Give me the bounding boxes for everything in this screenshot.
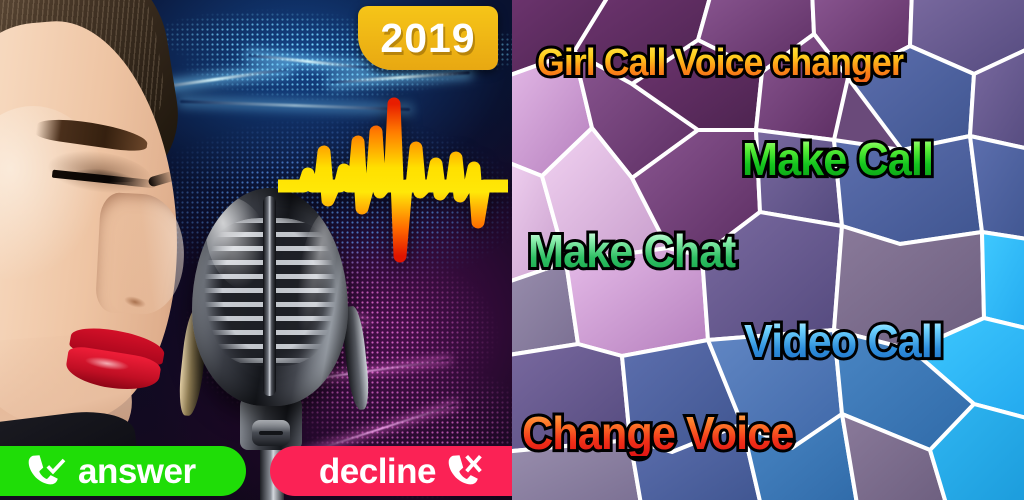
answer-button-label: answer	[78, 454, 196, 489]
year-badge-label: 2019	[380, 18, 475, 59]
year-badge: 2019	[358, 6, 498, 70]
left-panel-hero: 2019 answer decline	[0, 0, 512, 500]
app-screenshot: 2019 answer decline	[0, 0, 1024, 500]
phone-x-icon	[446, 453, 488, 489]
decline-button[interactable]: decline	[270, 446, 512, 496]
decline-button-label: decline	[319, 454, 436, 489]
feature-video-call-label: Video Call	[744, 318, 943, 364]
app-title-label: Girl Call Voice changer	[537, 44, 904, 82]
audio-waveform-icon	[278, 96, 508, 271]
phone-check-icon	[26, 453, 68, 489]
feature-make-call-label: Make Call	[742, 136, 933, 182]
mic-screw	[252, 420, 290, 446]
right-panel-features: Girl Call Voice changer Girl Call Voice …	[512, 0, 1024, 500]
feature-make-chat-label: Make Chat	[528, 228, 736, 274]
feature-change-voice-label: Change Voice	[522, 410, 793, 456]
answer-button[interactable]: answer	[0, 446, 246, 496]
